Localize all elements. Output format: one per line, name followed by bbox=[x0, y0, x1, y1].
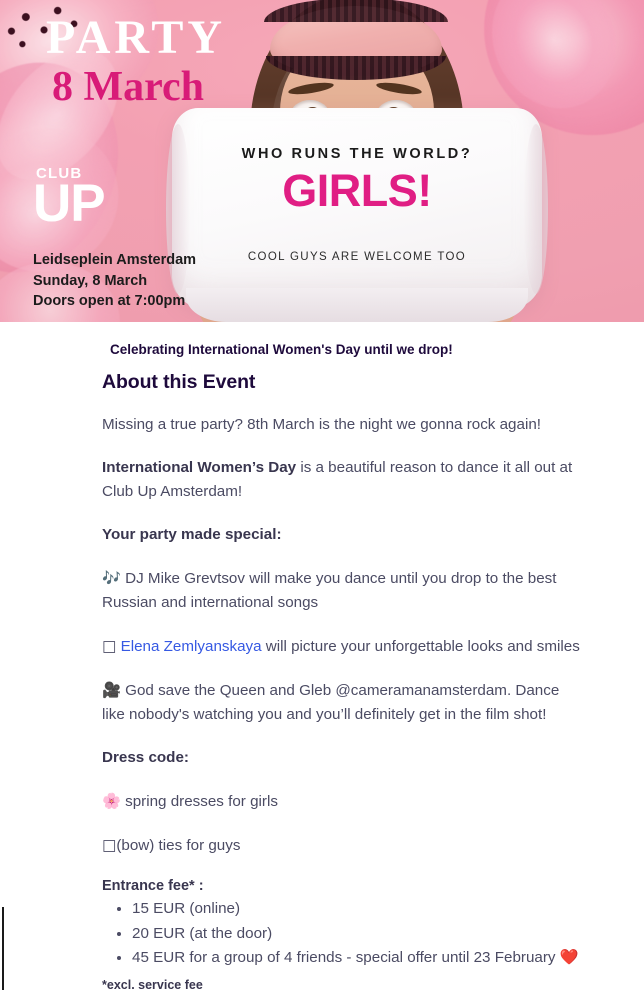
venue-details: Leidseplein Amsterdam Sunday, 8 March Do… bbox=[33, 250, 196, 312]
special-heading-text: Your party made special: bbox=[102, 526, 282, 543]
photographer-link[interactable]: Elena Zemlyanskaya bbox=[121, 638, 262, 655]
venue-location: Leidseplein Amsterdam bbox=[33, 250, 196, 271]
photographer-line: □ Elena Zemlyanskaya will picture your u… bbox=[102, 634, 580, 659]
pillow-answer: GIRLS! bbox=[172, 168, 542, 213]
dj-line: 🎶 DJ Mike Grevtsov will make you dance u… bbox=[102, 566, 580, 615]
cherry-blossom-icon: 🌸 bbox=[102, 792, 121, 810]
dress-code-heading-text: Dress code: bbox=[102, 749, 189, 766]
intro-paragraph: Missing a true party? 8th March is the n… bbox=[102, 413, 580, 437]
dj-text: DJ Mike Grevtsov will make you dance unt… bbox=[102, 570, 557, 611]
camera-placeholder-icon: □ bbox=[102, 637, 116, 655]
list-item: 15 EUR (online) bbox=[132, 897, 582, 921]
pillow-fold bbox=[186, 288, 528, 322]
dress-code-heading: Dress code: bbox=[102, 746, 580, 770]
entrance-fee-heading: Entrance fee* : bbox=[102, 878, 644, 894]
event-description: Celebrating International Women's Day un… bbox=[0, 342, 644, 992]
dress-girls-text: spring dresses for girls bbox=[121, 793, 278, 810]
womens-day-bold: International Women’s Day bbox=[102, 459, 296, 476]
venue-doors: Doors open at 7:00pm bbox=[33, 291, 196, 312]
videographer-line: 🎥 God save the Queen and Gleb @cameraman… bbox=[102, 678, 580, 727]
club-up-logo: CLUB UP bbox=[33, 166, 105, 225]
event-tagline: Celebrating International Women's Day un… bbox=[110, 342, 644, 357]
page-edge-line bbox=[2, 907, 4, 990]
special-heading: Your party made special: bbox=[102, 523, 580, 547]
list-item: 20 EUR (at the door) bbox=[132, 922, 582, 946]
event-banner: WHO RUNS THE WORLD? GIRLS! COOL GUYS ARE… bbox=[0, 0, 644, 322]
about-heading: About this Event bbox=[102, 371, 644, 394]
banner-title: PARTY bbox=[46, 14, 226, 62]
videographer-text: God save the Queen and Gleb @cameramanam… bbox=[102, 682, 559, 723]
womens-day-paragraph: International Women’s Day is a beautiful… bbox=[102, 456, 580, 504]
banner-date: 8 March bbox=[52, 66, 204, 108]
entrance-fee-list: 15 EUR (online) 20 EUR (at the door) 45 … bbox=[132, 897, 582, 970]
venue-date: Sunday, 8 March bbox=[33, 271, 196, 292]
pillow-text-block: WHO RUNS THE WORLD? GIRLS! COOL GUYS ARE… bbox=[172, 108, 542, 263]
sleep-mask-ruffle-top bbox=[264, 0, 448, 22]
bowtie-placeholder-icon: □ bbox=[102, 836, 116, 854]
pillow-question: WHO RUNS THE WORLD? bbox=[172, 146, 542, 162]
dress-guys-text: (bow) ties for guys bbox=[116, 837, 240, 854]
dress-guys-line: □(bow) ties for guys bbox=[102, 833, 580, 858]
dress-girls-line: 🌸 spring dresses for girls bbox=[102, 789, 580, 814]
list-item: 45 EUR for a group of 4 friends - specia… bbox=[132, 946, 582, 970]
movie-camera-icon: 🎥 bbox=[102, 681, 121, 699]
logo-up-text: UP bbox=[33, 182, 105, 225]
musical-notes-icon: 🎶 bbox=[102, 569, 121, 587]
photographer-text: will picture your unforgettable looks an… bbox=[262, 638, 580, 655]
pillow-subtitle: COOL GUYS ARE WELCOME TOO bbox=[172, 251, 542, 263]
